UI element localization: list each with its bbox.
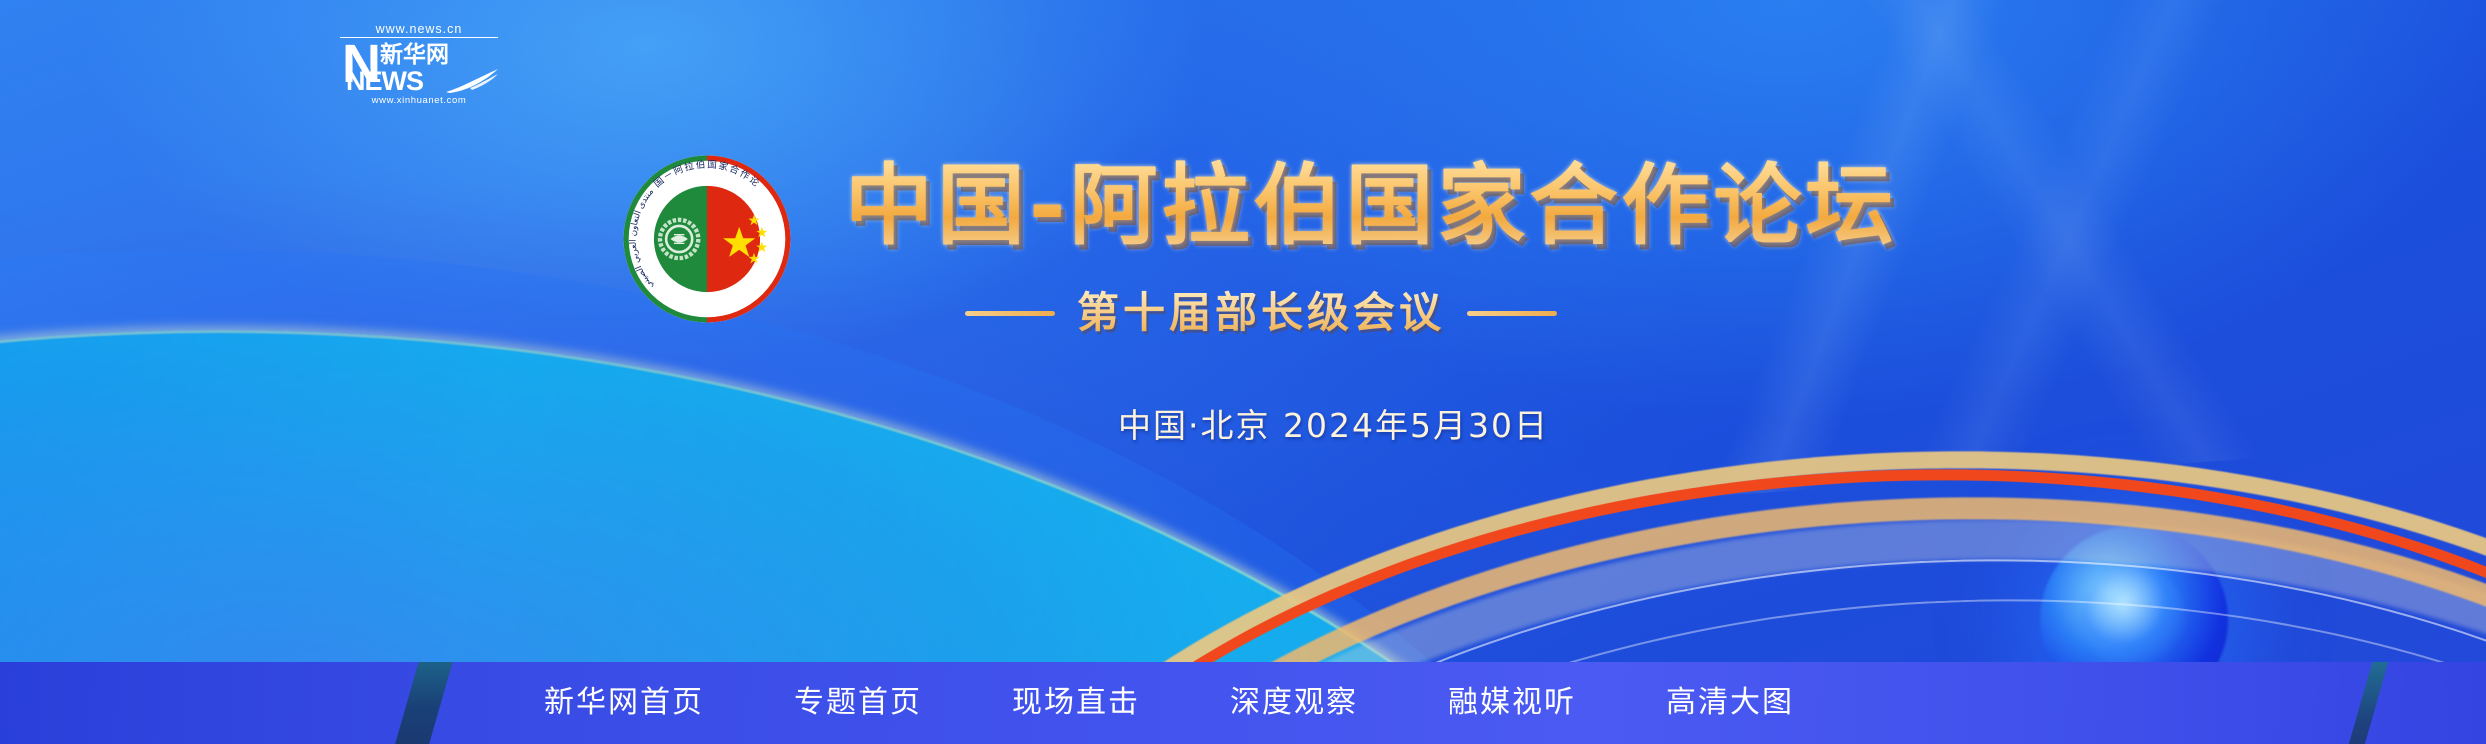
- nav-item-xinhua-home[interactable]: 新华网首页: [540, 680, 708, 726]
- subtitle-rule-left: [965, 311, 1055, 316]
- page-title: 中国-阿拉伯国家合作论坛: [845, 158, 1898, 254]
- nav-item-indepth[interactable]: 深度观察: [1226, 680, 1362, 726]
- nav-diagonal-accent-left: [385, 662, 456, 744]
- subtitle-rule-right: [1467, 311, 1557, 316]
- main-navigation-bar: 新华网首页 专题首页 现场直击 深度观察 融媒视听 高清大图: [0, 662, 2486, 744]
- nav-diagonal-accent-right: [2339, 662, 2394, 744]
- event-dateline: 中国·北京 2024年5月30日: [1118, 405, 1549, 447]
- nav-item-live[interactable]: 现场直击: [1008, 680, 1144, 726]
- event-banner: www.news.cn N 新华网 NEWS www.xinhuanet.com: [0, 0, 2486, 744]
- nav-item-photos[interactable]: 高清大图: [1662, 680, 1798, 726]
- nav-item-list: 新华网首页 专题首页 现场直击 深度观察 融媒视听 高清大图: [540, 662, 1798, 744]
- nav-item-topic-home[interactable]: 专题首页: [790, 680, 926, 726]
- nav-item-media[interactable]: 融媒视听: [1444, 680, 1580, 726]
- subtitle-row: 第十届部长级会议: [965, 288, 1557, 338]
- title-block: 中国-阿拉伯国家合作论坛 第十届部长级会议 中国·北京 2024年5月30日: [0, 0, 2486, 744]
- page-subtitle: 第十届部长级会议: [1077, 288, 1445, 338]
